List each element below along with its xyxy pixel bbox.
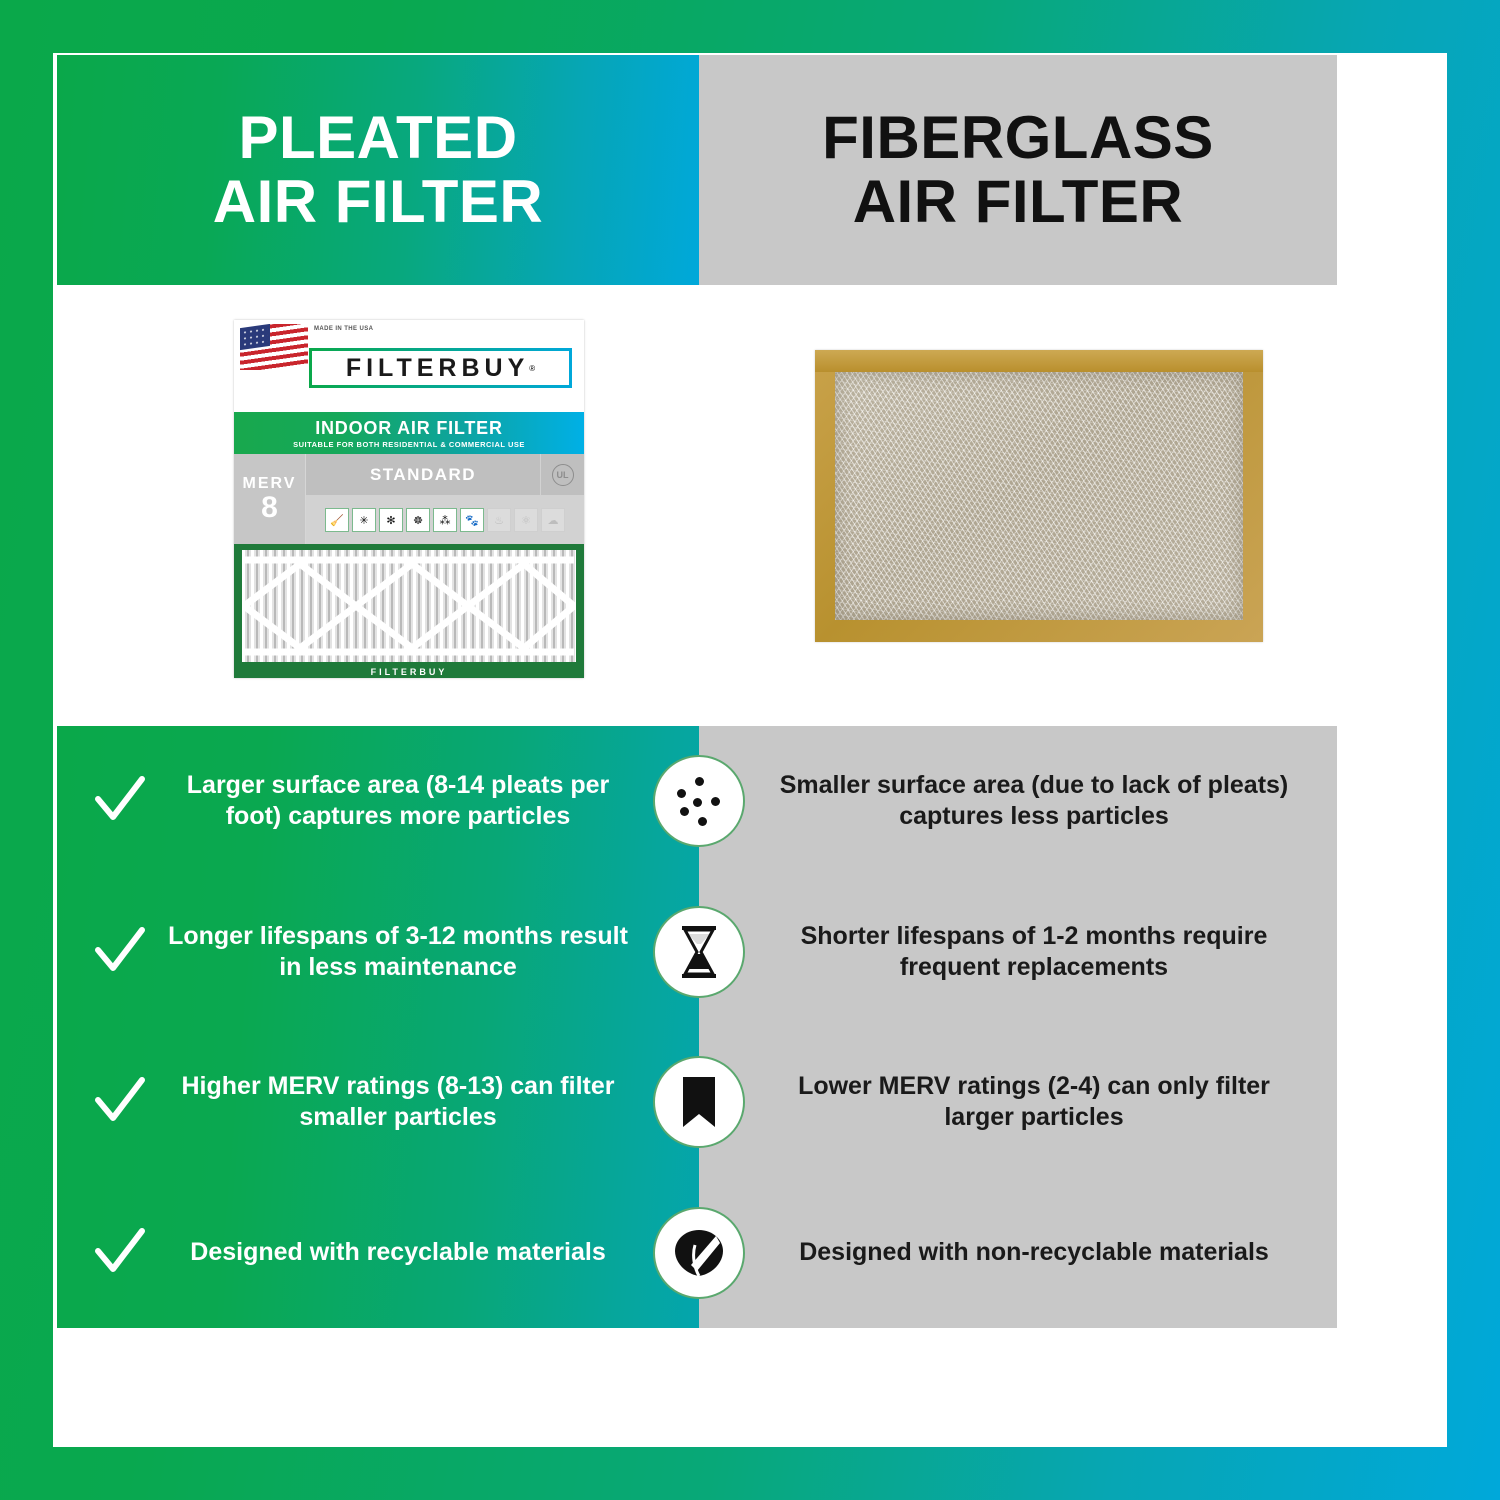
pet-dander-icon: 🐾 — [460, 508, 484, 532]
ul-listed-block: UL — [540, 454, 584, 495]
hourglass-glyph — [676, 925, 722, 979]
smoke-icon: ♨ — [487, 508, 511, 532]
grade-label: STANDARD — [306, 454, 540, 495]
header-fiberglass: FIBERGLASS AIR FILTER — [699, 55, 1337, 285]
virus-icon: ☁ — [541, 508, 565, 532]
comparison-row: Higher MERV ratings (8-13) can filter sm… — [57, 1027, 1337, 1178]
dust-mites-icon: ✳ — [352, 508, 376, 532]
row-pleated-cell: Longer lifespans of 3-12 months result i… — [57, 921, 699, 984]
row-pleated-cell: Larger surface area (8-14 pleats per foo… — [57, 770, 699, 833]
row-fiberglass-text: Shorter lifespans of 1-2 months require … — [699, 921, 1337, 984]
pollen-icon: ✻ — [379, 508, 403, 532]
comparison-rows: Larger surface area (8-14 pleats per foo… — [57, 726, 1337, 1328]
band-title: INDOOR AIR FILTER — [315, 418, 503, 439]
row-pleated-text: Larger surface area (8-14 pleats per foo… — [159, 770, 637, 833]
leaf-icon — [653, 1207, 745, 1299]
checkmark-icon — [91, 924, 149, 980]
bacteria-icon: ⚛ — [514, 508, 538, 532]
hourglass-icon — [653, 906, 745, 998]
fiberglass-media — [835, 372, 1243, 620]
product-images-row: MADE IN THE USA FILTERBUY® INDOOR AIR FI… — [57, 300, 1337, 720]
spec-right: STANDARD UL 🧹 ✳ ✻ ☸ ⁂ 🐾 ♨ ⚛ ☁ — [306, 454, 584, 544]
bookmark-icon — [653, 1056, 745, 1148]
spec-strip: MERV 8 STANDARD UL 🧹 ✳ ✻ ☸ ⁂ 🐾 ♨ — [234, 454, 584, 544]
grade-row: STANDARD UL — [306, 454, 584, 496]
vacuum-dust-icon: 🧹 — [325, 508, 349, 532]
row-fiberglass-text: Lower MERV ratings (2-4) can only filter… — [699, 1071, 1337, 1134]
ul-icon: UL — [552, 464, 574, 486]
checkmark-icon — [91, 1074, 149, 1130]
checkmark-icon — [91, 1225, 149, 1281]
row-pleated-cell: Higher MERV ratings (8-13) can filter sm… — [57, 1071, 699, 1134]
header-fiberglass-title: FIBERGLASS AIR FILTER — [822, 106, 1214, 234]
mold-icon: ☸ — [406, 508, 430, 532]
header-pleated-line2: AIR FILTER — [213, 170, 544, 234]
particles-icon — [653, 755, 745, 847]
indoor-air-filter-band: INDOOR AIR FILTER SUITABLE FOR BOTH RESI… — [234, 412, 584, 454]
particles-dots — [673, 775, 725, 827]
header-pleated-line1: PLEATED — [213, 106, 544, 170]
row-fiberglass-text: Smaller surface area (due to lack of ple… — [699, 770, 1337, 833]
row-fiberglass-text: Designed with non-recyclable materials — [699, 1237, 1337, 1268]
pleat-media — [242, 550, 576, 662]
header-fiberglass-line1: FIBERGLASS — [822, 106, 1214, 170]
header-fiberglass-line2: AIR FILTER — [822, 170, 1214, 234]
header-pleated: PLEATED AIR FILTER — [57, 55, 699, 285]
row-pleated-text: Longer lifespans of 3-12 months result i… — [159, 921, 637, 984]
comparison-row: Longer lifespans of 3-12 months result i… — [57, 877, 1337, 1028]
pleated-filter-product-image: MADE IN THE USA FILTERBUY® INDOOR AIR FI… — [234, 320, 584, 678]
filterbuy-logo: FILTERBUY® — [309, 348, 572, 388]
comparison-row: Larger surface area (8-14 pleats per foo… — [57, 726, 1337, 877]
header-pleated-title: PLEATED AIR FILTER — [213, 106, 544, 234]
checkmark-icon — [91, 773, 149, 829]
made-in-usa-label: MADE IN THE USA — [314, 326, 374, 334]
leaf-glyph — [672, 1227, 726, 1279]
comparison-row: Designed with recyclable materials Desig… — [57, 1178, 1337, 1329]
merv-block: MERV 8 — [234, 454, 306, 544]
bookmark-glyph — [679, 1076, 719, 1128]
filter-bottom-label: FILTERBUY — [234, 667, 584, 677]
merv-value: 8 — [261, 493, 278, 523]
row-pleated-text: Higher MERV ratings (8-13) can filter sm… — [159, 1071, 637, 1134]
lint-icon: ⁂ — [433, 508, 457, 532]
box-header: MADE IN THE USA FILTERBUY® — [234, 320, 584, 412]
pleated-media-window: FILTERBUY — [234, 544, 584, 678]
row-pleated-text: Designed with recyclable materials — [159, 1237, 637, 1268]
fiberglass-filter-product-image — [815, 350, 1263, 642]
comparison-panel: Larger surface area (8-14 pleats per foo… — [57, 726, 1337, 1328]
feature-icon-strip: 🧹 ✳ ✻ ☸ ⁂ 🐾 ♨ ⚛ ☁ — [306, 496, 584, 544]
row-pleated-cell: Designed with recyclable materials — [57, 1225, 699, 1281]
filterbuy-logo-text: FILTERBUY — [346, 354, 529, 383]
trademark-symbol: ® — [529, 364, 535, 373]
usa-flag-icon — [240, 324, 308, 370]
headers-row: PLEATED AIR FILTER FIBERGLASS AIR FILTER — [57, 55, 1337, 285]
band-subtitle: SUITABLE FOR BOTH RESIDENTIAL & COMMERCI… — [293, 440, 525, 449]
support-grid-icon — [242, 550, 576, 662]
